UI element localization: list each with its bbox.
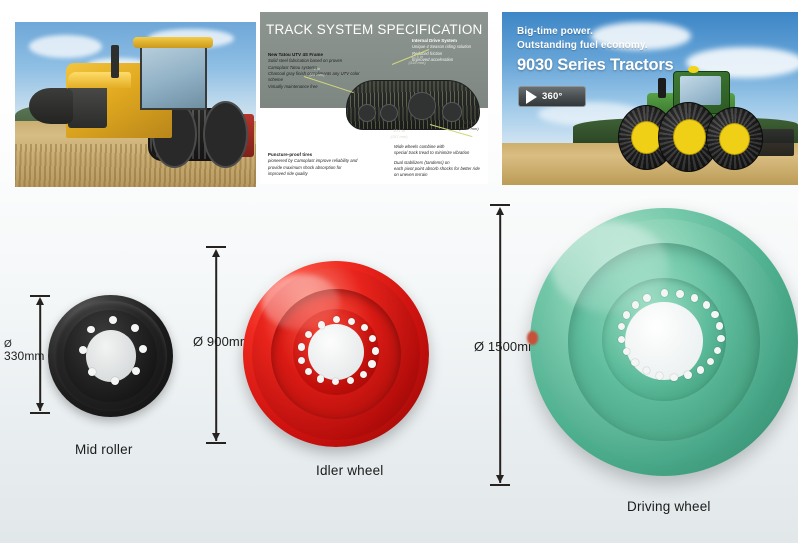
callout-body: pioneered by Camoplast improve reliabili… [268, 158, 360, 177]
dimension-callout: 1 in (25 mm) [300, 66, 334, 77]
hood [68, 72, 131, 89]
dim-metric: (257 mm) [390, 134, 407, 139]
exhaust-stack [658, 78, 665, 97]
exhaust-stack [111, 45, 118, 78]
idler-center-bore [308, 324, 364, 380]
bolt-hole [684, 371, 692, 379]
dimension-cap-bottom [30, 412, 50, 414]
arrowhead-down [496, 475, 504, 483]
bolt-hole [317, 375, 324, 382]
bolt-hole [631, 359, 639, 367]
road-wheel [380, 104, 398, 122]
wheel-hub [719, 123, 750, 155]
bolt-hole [131, 324, 139, 332]
dimension-callout: 12.5 in (318 mm) [398, 54, 436, 65]
beacon-light [688, 66, 699, 73]
bolt-hole [318, 321, 325, 328]
spec-title: TRACK SYSTEM SPECIFICATION [266, 22, 482, 37]
photo-john-deere-9030-banner[interactable]: Big-time power. Outstanding fuel economy… [502, 12, 798, 185]
bolt-hole [132, 367, 140, 375]
dim-imperial: 1 in [314, 66, 320, 71]
callout-body: each pivot point absorb shocks for bette… [394, 166, 480, 179]
callout-stabilizers: Wide wheels combine with special track t… [394, 144, 480, 178]
bolt-hole [298, 343, 305, 350]
play-triangle-icon [526, 90, 537, 104]
bolt-hole [623, 311, 631, 319]
dimension-callout: 10.1 in (257 mm) [380, 128, 418, 139]
caption-driving-wheel: Driving wheel [627, 499, 711, 514]
dimension-cap-top [490, 204, 510, 206]
bolt-hole [661, 289, 669, 297]
view-360-button[interactable]: 360° [518, 86, 586, 107]
arrowhead-down [36, 403, 44, 411]
front-weight [29, 88, 72, 124]
edge-color-mark [527, 331, 538, 344]
arrowhead-down [212, 433, 220, 441]
dimension-cap-bottom [490, 484, 510, 486]
dimension-cap-top [206, 246, 226, 248]
product-driving-wheel[interactable] [530, 208, 798, 476]
view-360-label: 360° [542, 91, 562, 102]
road-wheel [442, 102, 462, 122]
cab-roof [133, 37, 213, 49]
photo-challenger-tracked-tractor[interactable] [15, 22, 256, 187]
bolt-hole [632, 301, 640, 309]
driving-center-bore [625, 302, 703, 380]
product-mid-roller[interactable] [48, 295, 173, 417]
bolt-hole [643, 294, 651, 302]
road-wheel [358, 104, 376, 122]
banner-line-1: Big-time power. [517, 26, 593, 37]
bolt-hole [703, 301, 711, 309]
dim-metric: (1692 mm) [459, 126, 478, 131]
dim-imperial: 12.5 in [411, 54, 423, 59]
product-idler-wheel[interactable] [243, 261, 429, 447]
bolt-hole [697, 366, 705, 374]
bolt-hole [656, 372, 664, 380]
bolt-hole [691, 294, 699, 302]
bolt-hole [111, 377, 119, 385]
caption-idler-wheel: Idler wheel [316, 463, 384, 478]
photo-track-system-specification[interactable]: TRACK SYSTEM SPECIFICATION New Tatou UTV… [260, 12, 488, 184]
callout-puncture-proof-tires: Puncture-proof tires pioneered by Camopl… [268, 152, 360, 177]
caption-mid-roller: Mid roller [75, 442, 133, 457]
bolt-hole [670, 374, 678, 382]
wheel-hub [673, 119, 706, 155]
track-assembly-illustration: 1 in (25 mm) 12.5 in (318 mm) 10.1 in (2… [346, 68, 478, 142]
bolt-hole [711, 311, 719, 319]
product-sheet: TRACK SYSTEM SPECIFICATION New Tatou UTV… [0, 0, 798, 543]
bolt-hole [372, 347, 379, 354]
bolt-hole [87, 326, 95, 334]
dim-metric: (25 mm) [310, 72, 325, 77]
dimension-label-330mm: 330mm [4, 349, 45, 363]
dim-metric: (318 mm) [408, 60, 425, 65]
dimension-cap-bottom [206, 442, 226, 444]
drive-wheel [408, 92, 436, 120]
banner-headline: 9030 Series Tractors [517, 56, 674, 75]
bolt-hole [717, 335, 725, 343]
cab-glass [680, 76, 720, 105]
bolt-hole [676, 290, 684, 298]
dimension-1500mm: Ø 1500mm [478, 204, 522, 488]
dimension-900mm: Ø 900mm [194, 246, 238, 446]
sprocket [203, 101, 248, 168]
grille [68, 85, 107, 128]
banner-line-2: Outstanding fuel economy. [517, 40, 648, 51]
dim-imperial: 10.1 in [393, 128, 405, 133]
bolt-hole [368, 360, 375, 367]
dim-imperial: 66.5 in [463, 120, 475, 125]
cab [140, 43, 207, 110]
callout-body: special track tread to minimize vibratio… [394, 150, 480, 156]
dimension-callout: 66.5 in (1692 mm) [450, 120, 488, 131]
